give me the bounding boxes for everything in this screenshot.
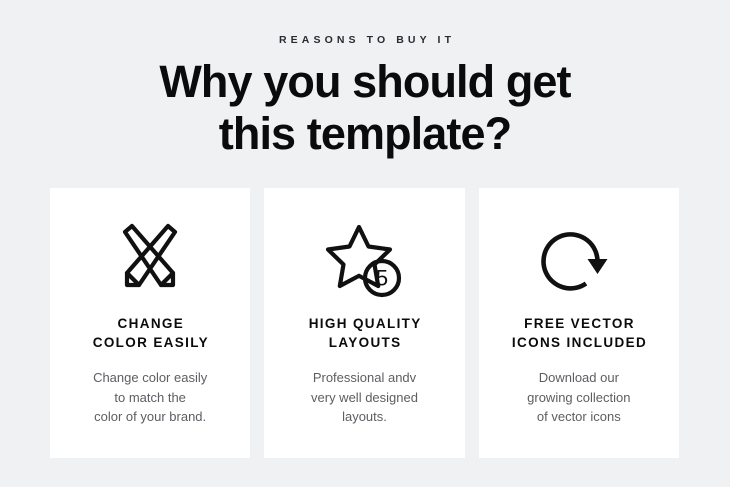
feature-card-body-line-3: color of your brand. (93, 407, 207, 427)
feature-card-body: Professional andv very well designed lay… (311, 368, 418, 427)
feature-card-body-line-1: Download our (527, 368, 630, 388)
feature-card-title-line-1: HIGH QUALITY (307, 314, 421, 333)
section-eyebrow: REASONS TO BUY IT (0, 34, 730, 46)
circular-refresh-arrow-icon (539, 212, 619, 308)
feature-card-body-line-3: layouts. (311, 407, 418, 427)
feature-card-body-line-2: to match the (93, 388, 207, 408)
feature-card-body-line-3: of vector icons (527, 407, 630, 427)
feature-card-title-line-2: COLOR EASILY (91, 333, 209, 352)
feature-card-body: Change color easily to match the color o… (93, 368, 207, 427)
feature-card-body-line-1: Professional andv (311, 368, 418, 388)
feature-card-body: Download our growing collection of vecto… (527, 368, 630, 427)
feature-card-body-line-2: very well designed (311, 388, 418, 408)
pencil-brush-cross-icon (111, 212, 189, 308)
feature-card-title-line-1: CHANGE (91, 314, 209, 333)
feature-card-title: HIGH QUALITY LAYOUTS (307, 314, 421, 352)
feature-section: REASONS TO BUY IT Why you should get thi… (0, 0, 730, 487)
feature-card-title: FREE VECTOR ICONS INCLUDED (511, 314, 648, 352)
star-rating-five-icon: 5 (324, 212, 404, 308)
page-title: Why you should get this template? (0, 56, 730, 160)
page-title-line-1: Why you should get (0, 56, 730, 108)
feature-card-title-line-2: LAYOUTS (307, 333, 421, 352)
feature-card-change-color[interactable]: CHANGE COLOR EASILY Change color easily … (50, 188, 250, 458)
feature-card-title-line-2: ICONS INCLUDED (511, 333, 648, 352)
feature-card-high-quality[interactable]: 5 HIGH QUALITY LAYOUTS Professional andv… (264, 188, 464, 458)
feature-card-body-line-1: Change color easily (93, 368, 207, 388)
page-title-line-2: this template? (0, 108, 730, 160)
feature-card-free-icons[interactable]: FREE VECTOR ICONS INCLUDED Download our … (479, 188, 679, 458)
feature-card-title: CHANGE COLOR EASILY (91, 314, 209, 352)
feature-card-list: CHANGE COLOR EASILY Change color easily … (50, 188, 679, 458)
feature-card-title-line-1: FREE VECTOR (511, 314, 648, 333)
feature-card-body-line-2: growing collection (527, 388, 630, 408)
star-badge-value: 5 (376, 266, 388, 291)
